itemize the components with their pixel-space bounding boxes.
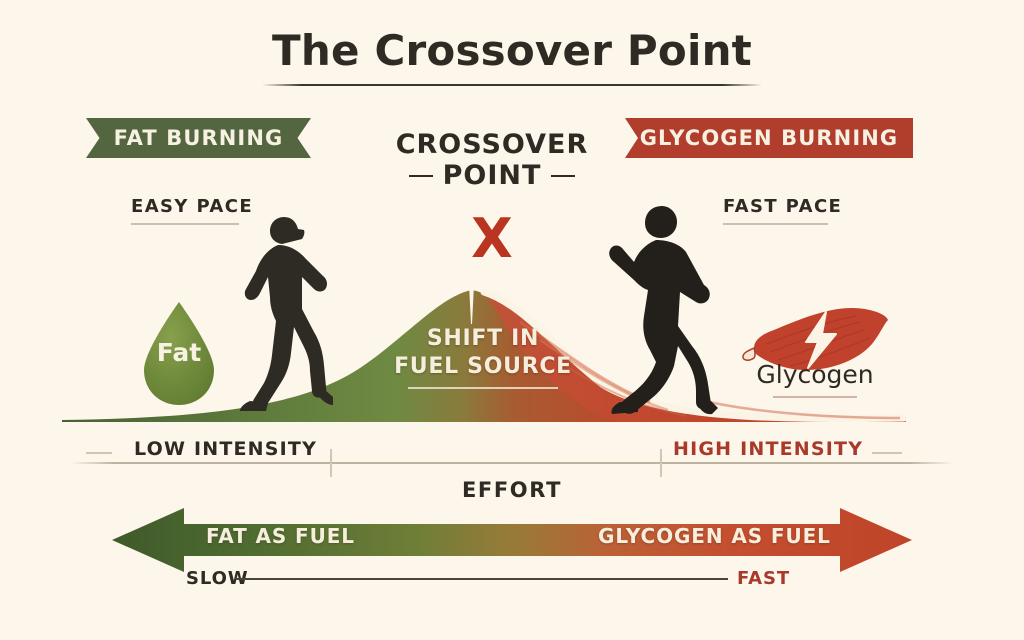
- intensity-axis-line: [70, 462, 954, 464]
- slow-fast-connector: [235, 578, 728, 580]
- effort-title: EFFORT: [0, 478, 1024, 502]
- infographic-canvas: The Crossover Point FAT BURNING GLYCOGEN…: [0, 0, 1024, 640]
- glycogen-label-underline: [773, 396, 857, 398]
- runner-silhouette-fast: [600, 196, 730, 418]
- glycogen-label: Glycogen: [742, 360, 888, 398]
- shift-caption-line-1: SHIFT IN: [388, 325, 578, 353]
- title-underline: [262, 84, 762, 86]
- runner-silhouette-easy: [232, 205, 342, 415]
- high-intensity-label: HIGH INTENSITY: [673, 438, 863, 460]
- fat-droplet: Fat: [136, 300, 222, 408]
- axis-stub-right: [872, 452, 902, 454]
- low-intensity-label: LOW INTENSITY: [134, 438, 317, 460]
- axis-tick-right: [660, 449, 662, 477]
- axis-tick-left: [330, 449, 332, 477]
- axis-stub-left: [86, 452, 112, 454]
- glycogen-label-text: Glycogen: [756, 360, 873, 389]
- shift-in-fuel-source-caption: SHIFT IN FUEL SOURCE: [388, 325, 578, 389]
- glycogen-as-fuel-label: GLYCOGEN AS FUEL: [598, 524, 831, 548]
- shift-caption-underline: [408, 387, 558, 389]
- shift-caption-line-2: FUEL SOURCE: [388, 353, 578, 381]
- banner-fat-burning-label: FAT BURNING: [114, 126, 284, 150]
- page-title: The Crossover Point: [0, 26, 1024, 75]
- fast-label: FAST: [737, 568, 790, 589]
- fat-as-fuel-label: FAT AS FUEL: [206, 524, 355, 548]
- banner-glycogen-burning-label: GLYCOGEN BURNING: [640, 126, 899, 150]
- fat-droplet-label: Fat: [136, 338, 222, 367]
